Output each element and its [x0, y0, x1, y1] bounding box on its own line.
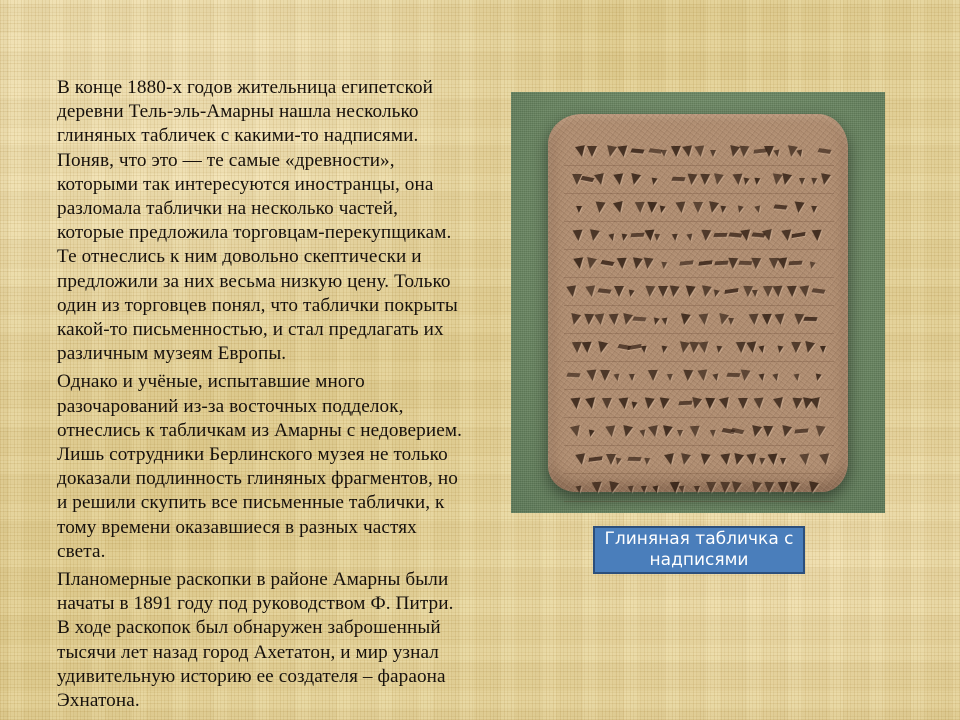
- cuneiform-wedge: [764, 482, 774, 493]
- cuneiform-wedge: [677, 430, 683, 437]
- tablet-photo: [511, 92, 885, 513]
- cuneiform-wedge: [777, 346, 784, 354]
- cuneiform-wedge: [819, 173, 831, 186]
- cuneiform-wedge: [820, 346, 826, 353]
- cuneiform-wedge: [617, 258, 628, 269]
- cuneiform-wedge: [585, 397, 597, 409]
- cuneiform-wedge: [594, 173, 606, 186]
- cuneiform-wedge: [630, 148, 644, 153]
- cuneiform-wedge: [713, 173, 725, 185]
- paragraph-1: В конце 1880-х годов жительница египетск…: [57, 76, 467, 366]
- cuneiform-wedge: [660, 262, 667, 269]
- cuneiform-wedge: [594, 201, 605, 213]
- cuneiform-wedge: [814, 373, 821, 381]
- cuneiform-wedge: [597, 288, 611, 293]
- cuneiform-wedge: [647, 370, 657, 381]
- presentation-slide: В конце 1880-х годов жительница египетск…: [0, 0, 960, 720]
- cuneiform-wedge: [658, 286, 668, 297]
- cuneiform-wedge: [628, 374, 634, 381]
- cuneiform-wedge: [690, 426, 701, 438]
- cuneiform-wedge: [661, 425, 673, 437]
- cuneiform-wedge: [631, 257, 643, 269]
- cuneiform-wedge: [633, 317, 647, 322]
- cuneiform-wedge: [668, 285, 679, 297]
- cuneiform-wedge: [587, 429, 594, 437]
- cuneiform-wedge: [725, 288, 739, 294]
- cuneiform-wedge: [786, 286, 796, 297]
- cuneiform-wedge: [720, 206, 727, 214]
- cuneiform-wedge: [698, 313, 709, 325]
- cuneiform-wedge: [587, 370, 598, 382]
- cuneiform-wedge: [761, 314, 771, 325]
- cuneiform-wedge: [660, 346, 667, 354]
- cuneiform-wedge: [628, 289, 635, 297]
- cuneiform-inscription: [564, 140, 834, 476]
- cuneiform-wedge: [628, 457, 642, 461]
- cuneiform-wedge: [780, 173, 792, 186]
- cuneiform-wedge: [606, 425, 617, 437]
- cuneiform-wedge: [679, 453, 691, 466]
- cuneiform-wedge: [682, 145, 694, 157]
- cuneiform-wedge: [699, 341, 710, 353]
- cuneiform-wedge: [575, 453, 587, 465]
- cuneiform-wedge: [750, 425, 762, 438]
- cuneiform-wedge: [627, 344, 641, 350]
- cuneiform-wedge: [759, 458, 766, 465]
- cuneiform-wedge: [652, 317, 659, 325]
- cuneiform-wedge: [811, 288, 825, 294]
- cuneiform-wedge: [799, 178, 805, 185]
- cuneiform-wedge: [773, 150, 780, 158]
- cuneiform-wedge: [592, 482, 603, 494]
- cuneiform-wedge: [602, 398, 612, 409]
- cuneiform-wedge: [694, 145, 705, 157]
- cuneiform-wedge: [654, 234, 660, 241]
- cuneiform-wedge: [659, 206, 666, 214]
- body-text-column: В конце 1880-х годов жительница египетск…: [57, 76, 467, 713]
- cuneiform-wedge: [661, 150, 667, 157]
- cuneiform-wedge: [630, 402, 637, 410]
- cuneiform-row: [564, 252, 834, 278]
- cuneiform-wedge: [719, 397, 731, 410]
- cuneiform-wedge: [614, 457, 621, 465]
- cuneiform-row: [564, 196, 834, 222]
- cuneiform-wedge: [714, 233, 728, 237]
- cuneiform-wedge: [658, 397, 669, 409]
- clay-tablet: [548, 114, 848, 492]
- cuneiform-wedge: [753, 398, 764, 410]
- cuneiform-wedge: [653, 485, 660, 493]
- cuneiform-wedge: [641, 346, 648, 354]
- cuneiform-wedge: [763, 286, 773, 297]
- cuneiform-wedge: [694, 486, 700, 493]
- cuneiform-wedge: [705, 398, 716, 409]
- cuneiform-wedge: [715, 261, 729, 266]
- cuneiform-wedge: [697, 369, 708, 381]
- cuneiform-wedge: [726, 373, 740, 377]
- cuneiform-row: [564, 140, 834, 166]
- cuneiform-wedge: [642, 257, 653, 269]
- cuneiform-wedge: [690, 397, 702, 410]
- cuneiform-wedge: [773, 286, 784, 298]
- cuneiform-wedge: [701, 230, 712, 242]
- cuneiform-wedge: [575, 145, 587, 158]
- cuneiform-wedge: [803, 317, 817, 321]
- cuneiform-wedge: [738, 398, 748, 409]
- cuneiform-wedge: [683, 370, 694, 382]
- cuneiform-wedge: [645, 286, 656, 298]
- cuneiform-wedge: [608, 233, 615, 241]
- cuneiform-wedge: [706, 482, 716, 493]
- cuneiform-wedge: [596, 341, 608, 354]
- cuneiform-wedge: [799, 453, 810, 465]
- cuneiform-wedge: [613, 201, 625, 214]
- cuneiform-wedge: [774, 313, 785, 325]
- cuneiform-wedge: [720, 453, 731, 465]
- cuneiform-wedge: [648, 425, 660, 438]
- cuneiform-row: [564, 420, 834, 446]
- cuneiform-wedge: [635, 202, 645, 213]
- cuneiform-wedge: [792, 232, 806, 238]
- cuneiform-wedge: [629, 173, 641, 186]
- cuneiform-wedge: [621, 234, 628, 242]
- cuneiform-wedge: [700, 174, 710, 185]
- cuneiform-wedge: [601, 260, 615, 266]
- cuneiform-wedge: [687, 174, 698, 186]
- cuneiform-wedge: [742, 178, 749, 186]
- cuneiform-wedge: [720, 482, 730, 493]
- cuneiform-wedge: [661, 318, 668, 326]
- cuneiform-wedge: [803, 341, 815, 354]
- cuneiform-wedge: [576, 206, 582, 213]
- cuneiform-wedge: [613, 173, 624, 185]
- cuneiform-wedge: [585, 257, 597, 270]
- cuneiform-wedge: [647, 202, 658, 213]
- cuneiform-wedge: [584, 314, 594, 325]
- cuneiform-row: [564, 392, 834, 418]
- cuneiform-wedge: [672, 234, 678, 241]
- cuneiform-wedge: [641, 486, 647, 493]
- cuneiform-wedge: [748, 314, 759, 326]
- cuneiform-wedge: [750, 481, 762, 494]
- cuneiform-wedge: [768, 454, 779, 466]
- cuneiform-wedge: [759, 345, 766, 353]
- cuneiform-wedge: [670, 146, 680, 157]
- cuneiform-wedge: [810, 397, 822, 410]
- cuneiform-wedge: [773, 204, 787, 209]
- cuneiform-wedge: [617, 145, 628, 157]
- cuneiform-wedge: [762, 229, 774, 242]
- cuneiform-wedge: [764, 146, 774, 157]
- cuneiform-wedge: [607, 481, 619, 494]
- cuneiform-wedge: [788, 261, 802, 266]
- cuneiform-wedge: [807, 481, 819, 494]
- cuneiform-wedge: [664, 453, 676, 466]
- cuneiform-wedge: [628, 486, 635, 494]
- cuneiform-wedge: [684, 285, 695, 297]
- cuneiform-wedge: [573, 257, 584, 269]
- cuneiform-wedge: [644, 458, 651, 465]
- cuneiform-wedge: [566, 373, 580, 378]
- cuneiform-row: [564, 364, 834, 390]
- cuneiform-wedge: [712, 289, 719, 297]
- cuneiform-wedge: [588, 456, 602, 462]
- cuneiform-wedge: [571, 398, 582, 410]
- cuneiform-wedge: [679, 313, 691, 325]
- cuneiform-row: [564, 168, 834, 194]
- cuneiform-wedge: [738, 146, 749, 158]
- cuneiform-wedge: [780, 458, 786, 465]
- cuneiform-wedge: [808, 261, 815, 269]
- cuneiform-wedge: [710, 150, 716, 157]
- cuneiform-wedge: [679, 486, 686, 494]
- cuneiform-wedge: [621, 313, 633, 326]
- cuneiform-wedge: [793, 374, 800, 382]
- cuneiform-wedge: [700, 285, 712, 297]
- cuneiform-wedge: [817, 148, 831, 154]
- cuneiform-wedge: [754, 178, 761, 186]
- cuneiform-wedge: [687, 234, 694, 242]
- cuneiform-wedge: [700, 453, 711, 465]
- cuneiform-wedge: [746, 341, 757, 353]
- cuneiform-wedge: [716, 346, 723, 354]
- cuneiform-wedge: [608, 314, 619, 326]
- cuneiform-row: [564, 336, 834, 362]
- cuneiform-row: [564, 224, 834, 250]
- cuneiform-wedge: [614, 374, 621, 382]
- cuneiform-wedge: [605, 145, 617, 158]
- cuneiform-wedge: [796, 149, 803, 157]
- cuneiform-wedge: [795, 428, 809, 433]
- cuneiform-wedge: [814, 425, 825, 437]
- image-caption-label: Глиняная табличка с надписями: [601, 529, 797, 571]
- cuneiform-wedge: [811, 206, 817, 213]
- cuneiform-wedge: [819, 453, 830, 465]
- cuneiform-wedge: [728, 318, 734, 325]
- cuneiform-wedge: [618, 397, 629, 409]
- cuneiform-row: [564, 308, 834, 334]
- cuneiform-wedge: [780, 425, 792, 438]
- cuneiform-wedge: [630, 233, 644, 238]
- cuneiform-row: [564, 448, 834, 474]
- cuneiform-wedge: [712, 373, 719, 381]
- cuneiform-wedge: [736, 342, 746, 353]
- cuneiform-wedge: [799, 285, 810, 297]
- cuneiform-wedge: [666, 374, 672, 381]
- cuneiform-wedge: [582, 342, 593, 354]
- cuneiform-wedge: [588, 229, 600, 241]
- cuneiform-wedge: [728, 258, 738, 269]
- cuneiform-wedge: [643, 397, 654, 409]
- cuneiform-wedge: [585, 285, 596, 297]
- cuneiform-wedge: [773, 397, 785, 410]
- cuneiform-wedge: [755, 205, 762, 213]
- cuneiform-wedge: [740, 369, 751, 381]
- cuneiform-wedge: [698, 260, 712, 266]
- cuneiform-wedge: [640, 430, 647, 438]
- cuneiform-wedge: [746, 453, 757, 465]
- cuneiform-wedge: [679, 260, 693, 265]
- cuneiform-wedge: [791, 342, 801, 353]
- cuneiform-wedge: [788, 481, 800, 494]
- paragraph-2: Однако и учёные, испытавшие много разоча…: [57, 370, 467, 564]
- cuneiform-wedge: [572, 230, 583, 242]
- cuneiform-wedge: [752, 290, 758, 297]
- cuneiform-wedge: [600, 370, 610, 381]
- cuneiform-wedge: [575, 486, 582, 494]
- cuneiform-wedge: [763, 426, 773, 437]
- cuneiform-wedge: [671, 177, 685, 182]
- cuneiform-row: [564, 280, 834, 306]
- cuneiform-wedge: [759, 374, 766, 382]
- cuneiform-wedge: [772, 373, 779, 381]
- cuneiform-wedge: [650, 178, 657, 186]
- cuneiform-wedge: [566, 285, 578, 297]
- cuneiform-wedge: [707, 201, 719, 214]
- cuneiform-wedge: [614, 286, 624, 297]
- cuneiform-wedge: [810, 178, 817, 186]
- cuneiform-wedge: [778, 257, 789, 269]
- cuneiform-wedge: [693, 202, 703, 213]
- cuneiform-wedge: [580, 176, 594, 182]
- cuneiform-wedge: [736, 205, 743, 213]
- paragraph-3: Планомерные раскопки в районе Амарны был…: [57, 568, 467, 713]
- cuneiform-wedge: [710, 430, 716, 437]
- cuneiform-wedge: [569, 313, 581, 326]
- cuneiform-wedge: [750, 258, 761, 269]
- cuneiform-wedge: [740, 229, 751, 241]
- cuneiform-wedge: [570, 425, 582, 438]
- image-caption-box: Глиняная табличка с надписями: [593, 526, 805, 574]
- cuneiform-row: [564, 476, 834, 502]
- cuneiform-wedge: [621, 425, 633, 438]
- cuneiform-wedge: [675, 202, 686, 214]
- cuneiform-wedge: [587, 146, 597, 157]
- cuneiform-wedge: [732, 453, 744, 466]
- cuneiform-wedge: [793, 201, 804, 213]
- cuneiform-wedge: [811, 230, 822, 242]
- cuneiform-wedge: [730, 481, 742, 493]
- cuneiform-wedge: [594, 313, 605, 325]
